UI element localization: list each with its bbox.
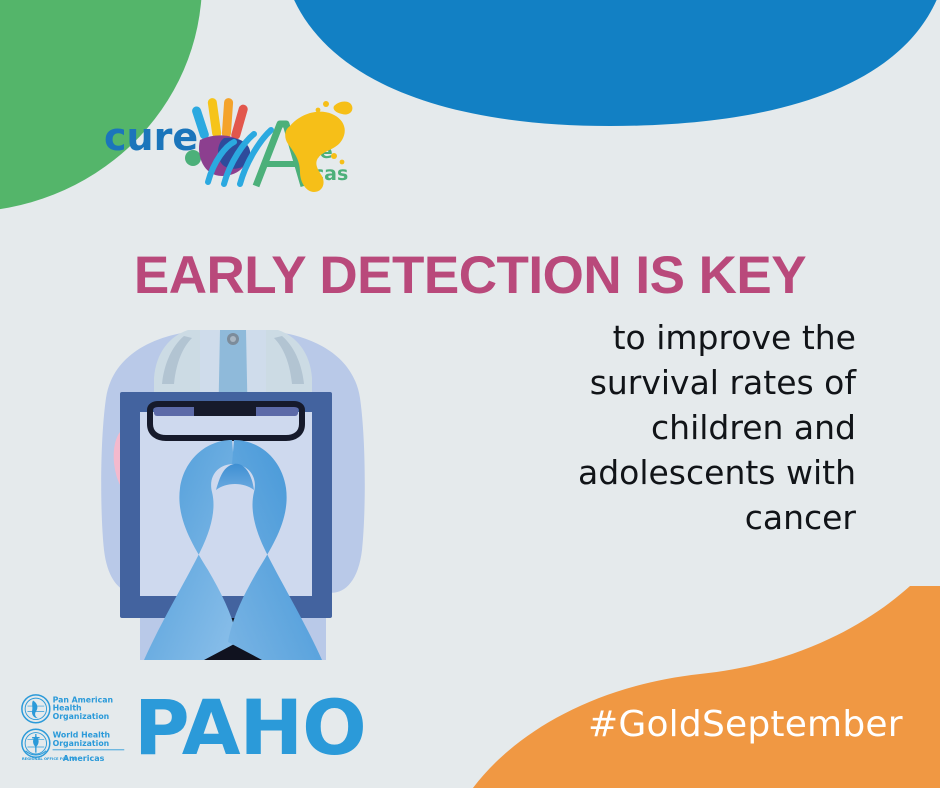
- paho-who-emblems: Pan American Health Organization World H…: [20, 693, 128, 766]
- cureall-logo-cure-text: cure: [104, 115, 198, 159]
- orange-blob-decoration: [470, 586, 940, 788]
- pan-american-health-organization-emblem-icon: [22, 695, 50, 723]
- body-line: cancer: [476, 496, 856, 541]
- doctor-clipboard-ribbon-illustration: [88, 312, 378, 660]
- body-copy: to improve the survival rates of childre…: [476, 316, 856, 540]
- world-health-organization-emblem-icon: [22, 730, 50, 758]
- paho-wordmark: PAHO: [134, 694, 414, 766]
- paho-logo-lockup: Pan American Health Organization World H…: [20, 693, 414, 766]
- cureall-americas-logo: cure me ricas: [104, 96, 354, 196]
- clipboard: [120, 392, 332, 618]
- paho-emblem-line: Organization: [53, 712, 110, 721]
- body-line: to improve the: [476, 316, 856, 361]
- who-emblem-line: Organization: [53, 739, 110, 748]
- body-line: children and: [476, 406, 856, 451]
- who-regional-office-region: Americas: [63, 754, 105, 763]
- body-line: survival rates of: [476, 361, 856, 406]
- poster-canvas: cure me ricas: [0, 0, 940, 788]
- hashtag-gold-september: #GoldSeptember: [588, 704, 903, 745]
- paho-wordmark-text: PAHO: [134, 694, 366, 766]
- body-line: adolescents with: [476, 451, 856, 496]
- headline: EARLY DETECTION IS KEY: [0, 248, 940, 304]
